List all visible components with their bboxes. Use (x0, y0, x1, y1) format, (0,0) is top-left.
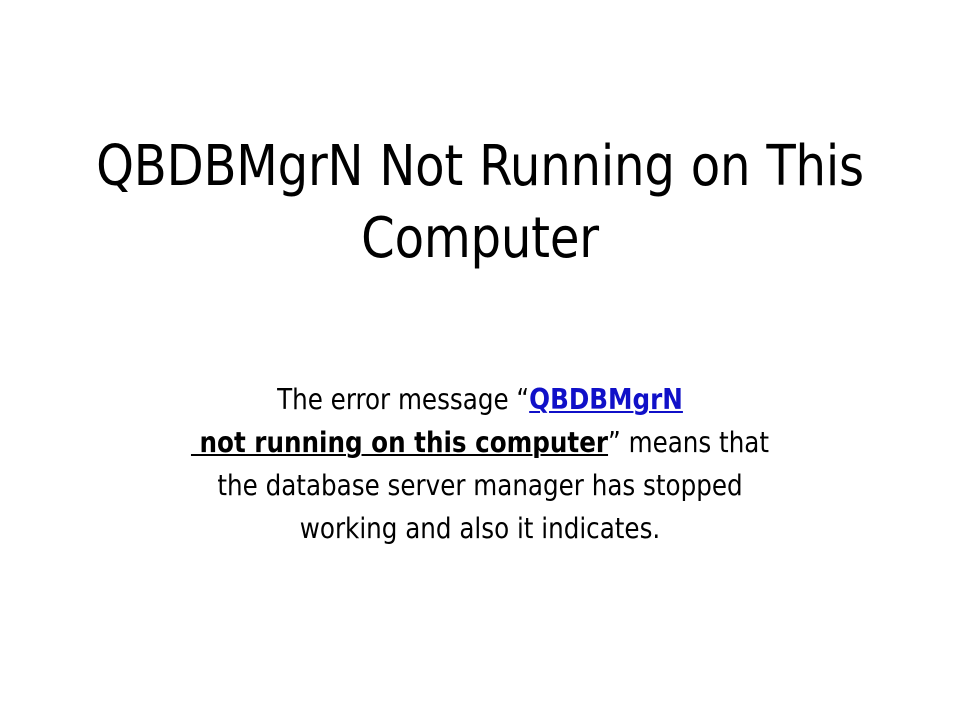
body-line-4: working and also it indicates. (144, 507, 816, 550)
body-line-1: The error message “QBDBMgrN (144, 378, 816, 421)
body-text-line-4: working and also it indicates. (300, 512, 660, 545)
body-text-lead: The error message “ (277, 383, 529, 416)
qbdbmgrn-link[interactable]: QBDBMgrN (529, 383, 683, 416)
body-text-line-3: the database server manager has stopped (217, 469, 742, 502)
slide-title-line-1: QBDBMgrN Not Running on This (88, 131, 871, 203)
slide-body: The error message “QBDBMgrN not running … (130, 378, 830, 550)
slide-canvas: QBDBMgrN Not Running on This Computer Th… (0, 0, 960, 720)
body-text-means-that: ” means that (608, 426, 769, 459)
slide-title-line-2: Computer (88, 203, 871, 275)
body-line-3: the database server manager has stopped (144, 464, 816, 507)
slide-title: QBDBMgrN Not Running on This Computer (70, 131, 890, 275)
not-running-on-this-computer-emphasis[interactable]: not running on this computer (191, 426, 608, 459)
body-line-2: not running on this computer” means that (144, 421, 816, 464)
